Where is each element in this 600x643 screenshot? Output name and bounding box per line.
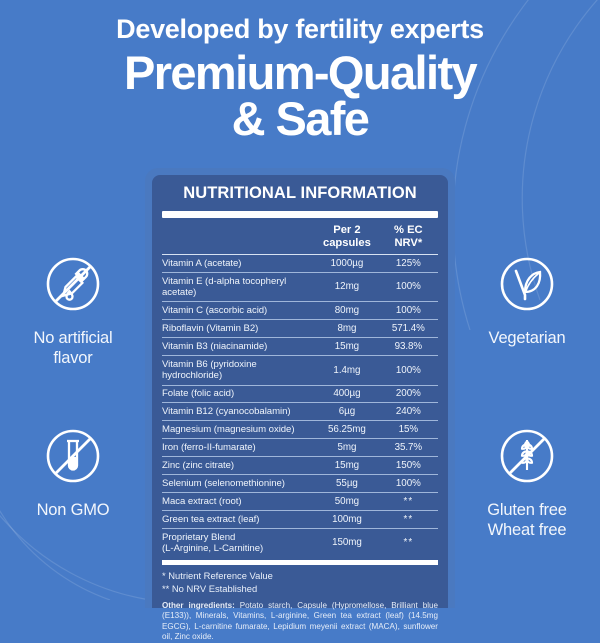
table-header-row: Per 2 capsules % EC NRV* (162, 218, 438, 255)
cell-amount: 15mg (315, 457, 378, 475)
cell-nutrient-subname: (L-Arginine, L-Carnitine) (162, 543, 315, 555)
cell-amount: 80mg (315, 302, 378, 320)
cell-nrv: 100% (379, 475, 438, 493)
cell-nutrient-name: Green tea extract (leaf) (162, 511, 315, 529)
column-header-name (162, 218, 315, 255)
cell-amount: 400µg (315, 385, 378, 403)
cell-nrv: 100% (379, 356, 438, 385)
cell-nutrient-name: Folate (folic acid) (162, 385, 315, 403)
cell-nutrient-name: Riboflavin (Vitamin B2) (162, 320, 315, 338)
cell-nrv: 35.7% (379, 439, 438, 457)
table-row: Proprietary Blend(L-Arginine, L-Carnitin… (162, 528, 438, 558)
footnotes: * Nutrient Reference Value ** No NRV Est… (162, 570, 438, 595)
headings-block: Developed by fertility experts Premium-Q… (0, 14, 600, 143)
footer-divider (162, 560, 438, 565)
cell-nrv: 240% (379, 403, 438, 421)
cell-amount: 56.25mg (315, 421, 378, 439)
cell-nrv: 150% (379, 457, 438, 475)
cell-nutrient-name: Proprietary Blend(L-Arginine, L-Carnitin… (162, 528, 315, 558)
footnote-nrv: * Nutrient Reference Value (162, 570, 438, 583)
cell-nrv: ** (379, 511, 438, 529)
cell-nrv: 125% (379, 255, 438, 273)
badge-label: Non GMO (37, 501, 110, 519)
column-header-amount: Per 2 capsules (315, 218, 378, 255)
cell-amount: 1000µg (315, 255, 378, 273)
table-row: Vitamin C (ascorbic acid)80mg100% (162, 302, 438, 320)
cell-nutrient-name: Magnesium (magnesium oxide) (162, 421, 315, 439)
cell-amount: 8mg (315, 320, 378, 338)
no-dropper-icon (8, 252, 138, 321)
leaf-v-icon (462, 252, 592, 321)
cell-nrv: 93.8% (379, 338, 438, 356)
column-header-nrv: % EC NRV* (379, 218, 438, 255)
cell-amount: 5mg (315, 439, 378, 457)
cell-amount: 1.4mg (315, 356, 378, 385)
card-title: NUTRITIONAL INFORMATION (162, 184, 438, 203)
cell-nrv: 100% (379, 302, 438, 320)
cell-nutrient-name: Iron (ferro-II-fumarate) (162, 439, 315, 457)
nutrition-table: Per 2 capsules % EC NRV* Vitamin A (acet… (162, 218, 438, 558)
badge-non-gmo: Non GMO (8, 424, 138, 521)
title-divider (162, 211, 438, 218)
cell-amount: 6µg (315, 403, 378, 421)
cell-nrv: 200% (379, 385, 438, 403)
table-row: Maca extract (root)50mg** (162, 493, 438, 511)
table-row: Selenium (selenomethionine)55µg100% (162, 475, 438, 493)
nutritional-information-card: NUTRITIONAL INFORMATION Per 2 capsules %… (145, 168, 455, 608)
cell-nrv: 100% (379, 273, 438, 302)
cell-amount: 150mg (315, 528, 378, 558)
badge-vegetarian: Vegetarian (462, 252, 592, 349)
kicker-text: Developed by fertility experts (0, 14, 600, 44)
headline-line-1: Premium-Quality (0, 49, 600, 97)
no-wheat-icon (462, 424, 592, 493)
badge-gluten-free: Gluten free Wheat free (462, 424, 592, 541)
table-row: Green tea extract (leaf)100mg** (162, 511, 438, 529)
table-row: Riboflavin (Vitamin B2)8mg571.4% (162, 320, 438, 338)
cell-nutrient-name: Maca extract (root) (162, 493, 315, 511)
other-ingredients: Other ingredients: Potato starch, Capsul… (162, 601, 438, 643)
table-row: Vitamin A (acetate)1000µg125% (162, 255, 438, 273)
cell-amount: 100mg (315, 511, 378, 529)
card-inner-panel: NUTRITIONAL INFORMATION Per 2 capsules %… (152, 175, 448, 608)
cell-amount: 50mg (315, 493, 378, 511)
badge-label: Gluten free Wheat free (487, 501, 566, 539)
cell-nutrient-name: Vitamin E (d-alpha tocopheryl acetate) (162, 273, 315, 302)
cell-nutrient-name: Vitamin A (acetate) (162, 255, 315, 273)
table-row: Zinc (zinc citrate)15mg150% (162, 457, 438, 475)
cell-nutrient-name: Vitamin B3 (niacinamide) (162, 338, 315, 356)
table-row: Vitamin E (d-alpha tocopheryl acetate)12… (162, 273, 438, 302)
table-row: Iron (ferro-II-fumarate)5mg35.7% (162, 439, 438, 457)
cell-nutrient-name: Vitamin C (ascorbic acid) (162, 302, 315, 320)
cell-nutrient-name: Vitamin B6 (pyridoxine hydrochloride) (162, 356, 315, 385)
table-row: Vitamin B12 (cyanocobalamin)6µg240% (162, 403, 438, 421)
cell-nrv: ** (379, 528, 438, 558)
badge-label: Vegetarian (489, 329, 566, 347)
cell-amount: 12mg (315, 273, 378, 302)
other-ingredients-label: Other ingredients: (162, 601, 235, 610)
cell-nutrient-name: Zinc (zinc citrate) (162, 457, 315, 475)
cell-amount: 55µg (315, 475, 378, 493)
table-row: Folate (folic acid)400µg200% (162, 385, 438, 403)
cell-amount: 15mg (315, 338, 378, 356)
badge-no-artificial-flavor: No artificial flavor (8, 252, 138, 369)
cell-nutrient-name: Selenium (selenomethionine) (162, 475, 315, 493)
headline-line-2: & Safe (0, 95, 600, 143)
table-row: Magnesium (magnesium oxide)56.25mg15% (162, 421, 438, 439)
table-row: Vitamin B6 (pyridoxine hydrochloride)1.4… (162, 356, 438, 385)
table-row: Vitamin B3 (niacinamide)15mg93.8% (162, 338, 438, 356)
badge-label: No artificial flavor (33, 329, 112, 367)
cell-nrv: 15% (379, 421, 438, 439)
no-test-tube-icon (8, 424, 138, 493)
footnote-no-nrv: ** No NRV Established (162, 583, 438, 596)
cell-nutrient-name: Vitamin B12 (cyanocobalamin) (162, 403, 315, 421)
cell-nrv: ** (379, 493, 438, 511)
cell-nrv: 571.4% (379, 320, 438, 338)
